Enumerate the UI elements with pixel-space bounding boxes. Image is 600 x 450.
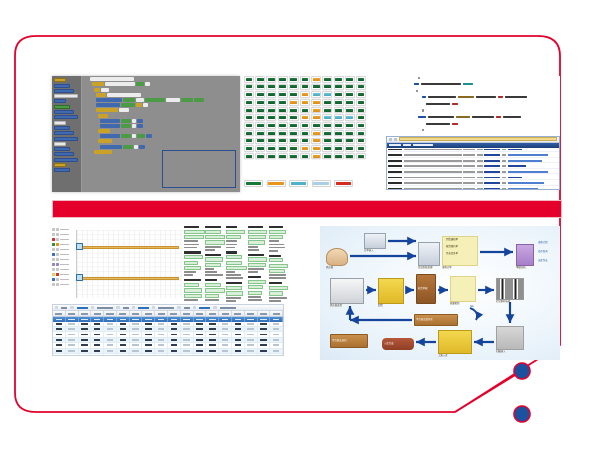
workflow-node-putaway[interactable]: [438, 330, 472, 354]
block-statement[interactable]: [98, 114, 240, 118]
table-cell[interactable]: [91, 354, 104, 356]
block-chip[interactable]: [143, 103, 148, 107]
code-line[interactable]: [388, 102, 560, 105]
workflow-node-supplier-person[interactable]: [326, 248, 348, 266]
workflow-node-unload[interactable]: [378, 278, 404, 304]
table-cell[interactable]: [270, 332, 283, 336]
log-filter-field[interactable]: [399, 137, 557, 141]
palette-block[interactable]: [54, 115, 78, 119]
table-cell[interactable]: [181, 338, 194, 342]
status-cell[interactable]: [334, 130, 344, 137]
status-cell[interactable]: [356, 76, 366, 83]
table-cell[interactable]: [155, 354, 168, 356]
status-cell[interactable]: [311, 122, 321, 129]
status-cell[interactable]: [334, 107, 344, 114]
blocks-canvas[interactable]: [84, 76, 240, 192]
gantt-task-bar[interactable]: [79, 246, 179, 249]
table-cell[interactable]: [219, 338, 232, 342]
table-row[interactable]: [53, 354, 283, 356]
table-column-header[interactable]: [194, 311, 207, 316]
table-toolbar-icon[interactable]: [152, 306, 155, 309]
status-cell[interactable]: [300, 153, 310, 160]
table-cell[interactable]: [168, 332, 181, 336]
status-cell[interactable]: [244, 107, 254, 114]
status-cell[interactable]: [334, 91, 344, 98]
status-cell[interactable]: [300, 91, 310, 98]
table-cell[interactable]: [53, 354, 66, 356]
table-cell[interactable]: [53, 327, 66, 331]
table-cell[interactable]: [66, 343, 79, 347]
table-cell[interactable]: [194, 349, 207, 353]
table-cell[interactable]: [194, 338, 207, 342]
status-cell[interactable]: [345, 84, 355, 91]
block-chip[interactable]: [98, 129, 110, 133]
status-cell[interactable]: [300, 76, 310, 83]
status-cell[interactable]: [255, 114, 265, 121]
status-cell[interactable]: [244, 91, 254, 98]
table-cell[interactable]: [155, 322, 168, 326]
table-cell[interactable]: [130, 349, 143, 353]
status-cell[interactable]: [289, 99, 299, 106]
block-chip[interactable]: [139, 145, 145, 149]
status-cell[interactable]: [334, 153, 344, 160]
status-cell[interactable]: [289, 84, 299, 91]
table-cell[interactable]: [104, 327, 117, 331]
table-cell[interactable]: [258, 327, 271, 331]
table-cell[interactable]: [117, 354, 130, 356]
table-cell[interactable]: [142, 322, 155, 326]
data-table-panel[interactable]: [52, 304, 284, 356]
table-toolbar-icon[interactable]: [132, 306, 135, 309]
table-cell[interactable]: [66, 338, 79, 342]
table-column-header[interactable]: [117, 311, 130, 316]
status-cell[interactable]: [356, 114, 366, 121]
palette-block[interactable]: [54, 137, 78, 141]
status-cell[interactable]: [311, 107, 321, 114]
status-cell[interactable]: [289, 153, 299, 160]
table-cell[interactable]: [245, 354, 258, 356]
table-cell[interactable]: [79, 322, 92, 326]
blocks-palette[interactable]: [52, 76, 82, 192]
block-chip[interactable]: [96, 103, 120, 107]
status-cell[interactable]: [334, 84, 344, 91]
code-line[interactable]: [388, 76, 560, 79]
table-cell[interactable]: [91, 338, 104, 342]
status-cell[interactable]: [244, 76, 254, 83]
block-chip[interactable]: [100, 119, 120, 123]
status-cell[interactable]: [255, 84, 265, 91]
table-cell[interactable]: [181, 332, 194, 336]
status-cell[interactable]: [356, 153, 366, 160]
block-statement[interactable]: [98, 129, 240, 133]
table-cell[interactable]: [168, 338, 181, 342]
code-editor-panel[interactable]: [388, 76, 560, 136]
table-column-header[interactable]: [142, 311, 155, 316]
block-chip[interactable]: [90, 77, 134, 81]
status-cell[interactable]: [322, 84, 332, 91]
status-cell[interactable]: [289, 114, 299, 121]
table-toolbar-icon[interactable]: [91, 306, 94, 309]
table-cell[interactable]: [91, 327, 104, 331]
block-chip[interactable]: [134, 145, 138, 149]
table-column-header[interactable]: [104, 311, 117, 316]
table-cell[interactable]: [130, 327, 143, 331]
table-toolbar-label[interactable]: [77, 307, 88, 309]
table-cell[interactable]: [130, 338, 143, 342]
block-chip[interactable]: [137, 119, 143, 123]
status-cell[interactable]: [278, 138, 288, 145]
table-cell[interactable]: [53, 338, 66, 342]
gantt-task-bar[interactable]: [79, 277, 179, 280]
status-cell[interactable]: [345, 76, 355, 83]
gantt-milestone-marker[interactable]: [76, 243, 83, 250]
table-cell[interactable]: [258, 343, 271, 347]
table-cell[interactable]: [79, 332, 92, 336]
status-cell[interactable]: [345, 122, 355, 129]
status-cell[interactable]: [244, 130, 254, 137]
status-cell[interactable]: [311, 145, 321, 152]
status-cell[interactable]: [345, 99, 355, 106]
table-column-header[interactable]: [181, 311, 194, 316]
block-chip[interactable]: [136, 98, 144, 102]
table-cell[interactable]: [117, 322, 130, 326]
table-column-header[interactable]: [245, 311, 258, 316]
table-cell[interactable]: [270, 349, 283, 353]
table-cell[interactable]: [66, 349, 79, 353]
code-line[interactable]: [388, 129, 560, 132]
block-chip[interactable]: [181, 98, 193, 102]
status-cell[interactable]: [266, 76, 276, 83]
workflow-diagram-panel[interactable]: 供应商订单录入信息系统处理采购订单单据归档供应商送货卸货收货单据质量检验打印条码…: [320, 226, 560, 360]
block-chip[interactable]: [166, 98, 180, 102]
table-cell[interactable]: [53, 349, 66, 353]
table-cell[interactable]: [206, 354, 219, 356]
table-cell[interactable]: [130, 354, 143, 356]
status-cell[interactable]: [266, 114, 276, 121]
table-cell[interactable]: [142, 327, 155, 331]
table-cell[interactable]: [258, 338, 271, 342]
block-statement[interactable]: [100, 134, 240, 138]
table-cell[interactable]: [232, 338, 245, 342]
table-cell[interactable]: [130, 322, 143, 326]
block-statement[interactable]: [92, 82, 240, 86]
workflow-node-inbound-truck[interactable]: [330, 278, 364, 304]
table-cell[interactable]: [219, 327, 232, 331]
table-cell[interactable]: [232, 343, 245, 347]
table-column-header[interactable]: [155, 311, 168, 316]
status-cell[interactable]: [345, 138, 355, 145]
table-cell[interactable]: [155, 338, 168, 342]
status-cell[interactable]: [322, 91, 332, 98]
table-cell[interactable]: [53, 322, 66, 326]
block-chip[interactable]: [136, 82, 144, 86]
table-cell[interactable]: [155, 332, 168, 336]
status-cell[interactable]: [278, 76, 288, 83]
palette-block[interactable]: [54, 110, 74, 114]
status-cell[interactable]: [322, 122, 332, 129]
table-cell[interactable]: [219, 322, 232, 326]
block-chip[interactable]: [94, 150, 112, 154]
status-cell[interactable]: [278, 153, 288, 160]
block-chip[interactable]: [100, 145, 122, 149]
status-cell[interactable]: [289, 145, 299, 152]
block-statement[interactable]: [96, 93, 240, 97]
status-cell[interactable]: [356, 107, 366, 114]
block-chip[interactable]: [107, 93, 141, 97]
block-chip[interactable]: [146, 134, 152, 138]
table-cell[interactable]: [245, 322, 258, 326]
block-chip[interactable]: [137, 134, 145, 138]
block-chip[interactable]: [100, 134, 120, 138]
blocks-editor-panel[interactable]: [52, 76, 240, 192]
workflow-node-scan-in[interactable]: [496, 326, 524, 350]
toolbar-icon[interactable]: [389, 138, 392, 141]
table-cell[interactable]: [206, 349, 219, 353]
code-line[interactable]: [388, 96, 560, 99]
table-cell[interactable]: [181, 322, 194, 326]
code-line[interactable]: [388, 122, 560, 125]
table-cell[interactable]: [245, 349, 258, 353]
table-cell[interactable]: [245, 332, 258, 336]
status-cell[interactable]: [266, 84, 276, 91]
table-cell[interactable]: [79, 354, 92, 356]
table-toolbar-label[interactable]: [220, 307, 236, 309]
palette-block[interactable]: [54, 78, 66, 82]
status-cell[interactable]: [356, 122, 366, 129]
table-cell[interactable]: [117, 327, 130, 331]
status-cell[interactable]: [278, 130, 288, 137]
table-column-header[interactable]: [79, 311, 92, 316]
palette-block[interactable]: [54, 142, 66, 146]
table-cell[interactable]: [270, 322, 283, 326]
block-chip[interactable]: [96, 93, 106, 97]
table-cell[interactable]: [245, 343, 258, 347]
table-cell[interactable]: [258, 332, 271, 336]
table-column-header[interactable]: [130, 311, 143, 316]
block-statement[interactable]: [90, 77, 240, 81]
table-cell[interactable]: [168, 354, 181, 356]
status-cell[interactable]: [311, 114, 321, 121]
table-cell[interactable]: [79, 349, 92, 353]
table-cell[interactable]: [142, 349, 155, 353]
table-toolbar-label[interactable]: [123, 307, 129, 309]
table-cell[interactable]: [232, 327, 245, 331]
workflow-node-erp-system[interactable]: [418, 242, 440, 266]
status-cell[interactable]: [311, 99, 321, 106]
table-cell[interactable]: [219, 343, 232, 347]
block-chip[interactable]: [105, 82, 135, 86]
status-cell[interactable]: [345, 153, 355, 160]
status-cell[interactable]: [334, 114, 344, 121]
status-cell[interactable]: [356, 84, 366, 91]
block-chip[interactable]: [101, 88, 109, 92]
status-cell[interactable]: [300, 138, 310, 145]
status-cell[interactable]: [278, 99, 288, 106]
table-toolbar-icon[interactable]: [213, 306, 216, 309]
table-toolbar-label[interactable]: [138, 307, 149, 309]
table-cell[interactable]: [104, 338, 117, 342]
status-cell[interactable]: [266, 130, 276, 137]
table-cell[interactable]: [117, 349, 130, 353]
block-chip[interactable]: [100, 124, 120, 128]
table-toolbar-label[interactable]: [61, 307, 67, 309]
status-cell[interactable]: [266, 145, 276, 152]
table-toolbar-icon[interactable]: [116, 306, 119, 309]
code-line[interactable]: [388, 89, 560, 92]
log-row[interactable]: [387, 176, 559, 180]
status-cell[interactable]: [266, 122, 276, 129]
status-grid-panel[interactable]: [244, 76, 366, 176]
table-toolbar-icon[interactable]: [193, 306, 196, 309]
status-cell[interactable]: [289, 138, 299, 145]
status-cell[interactable]: [278, 107, 288, 114]
status-cell[interactable]: [255, 76, 265, 83]
table-cell[interactable]: [130, 343, 143, 347]
table-toolbar-label[interactable]: [158, 307, 174, 309]
status-cell[interactable]: [345, 91, 355, 98]
status-cell[interactable]: [255, 99, 265, 106]
table-cell[interactable]: [79, 343, 92, 347]
table-cell[interactable]: [270, 327, 283, 331]
block-statement[interactable]: [96, 108, 240, 112]
palette-block[interactable]: [54, 99, 66, 103]
table-cell[interactable]: [206, 327, 219, 331]
block-chip[interactable]: [119, 108, 129, 112]
block-chip[interactable]: [136, 103, 142, 107]
status-cell[interactable]: [334, 99, 344, 106]
status-cell[interactable]: [311, 138, 321, 145]
status-cell[interactable]: [356, 138, 366, 145]
palette-block[interactable]: [54, 168, 70, 172]
table-cell[interactable]: [194, 327, 207, 331]
palette-block[interactable]: [54, 147, 70, 151]
status-cell[interactable]: [255, 138, 265, 145]
table-cell[interactable]: [168, 327, 181, 331]
palette-block[interactable]: [54, 105, 70, 109]
table-cell[interactable]: [117, 332, 130, 336]
status-cell[interactable]: [322, 138, 332, 145]
table-cell[interactable]: [117, 338, 130, 342]
workflow-node-archive[interactable]: [516, 244, 534, 266]
block-chip[interactable]: [96, 108, 118, 112]
block-chip[interactable]: [121, 134, 131, 138]
status-cell[interactable]: [244, 114, 254, 121]
block-chip[interactable]: [96, 98, 122, 102]
palette-block[interactable]: [54, 131, 74, 135]
status-cell[interactable]: [322, 99, 332, 106]
status-cell[interactable]: [266, 138, 276, 145]
table-cell[interactable]: [155, 349, 168, 353]
status-cell[interactable]: [289, 91, 299, 98]
table-cell[interactable]: [53, 332, 66, 336]
status-cell[interactable]: [356, 99, 366, 106]
palette-block[interactable]: [54, 126, 70, 130]
data-table-body[interactable]: [53, 322, 283, 356]
table-cell[interactable]: [270, 343, 283, 347]
table-column-header[interactable]: [168, 311, 181, 316]
table-cell[interactable]: [181, 327, 194, 331]
table-column-header[interactable]: [206, 311, 219, 316]
table-cell[interactable]: [142, 343, 155, 347]
block-statement[interactable]: [96, 98, 240, 102]
table-cell[interactable]: [194, 332, 207, 336]
table-cell[interactable]: [194, 343, 207, 347]
block-chip[interactable]: [123, 98, 135, 102]
status-cell[interactable]: [322, 130, 332, 137]
table-cell[interactable]: [155, 343, 168, 347]
log-row[interactable]: [387, 159, 559, 163]
status-cell[interactable]: [356, 130, 366, 137]
gantt-milestone-marker[interactable]: [76, 274, 83, 281]
palette-block[interactable]: [54, 121, 66, 125]
code-line[interactable]: [388, 109, 560, 112]
table-cell[interactable]: [245, 327, 258, 331]
table-cell[interactable]: [66, 322, 79, 326]
table-cell[interactable]: [270, 354, 283, 356]
table-cell[interactable]: [206, 343, 219, 347]
table-cell[interactable]: [258, 349, 271, 353]
log-row[interactable]: [387, 182, 559, 186]
status-cell[interactable]: [278, 122, 288, 129]
table-toolbar-label[interactable]: [97, 307, 113, 309]
status-cell[interactable]: [255, 122, 265, 129]
table-cell[interactable]: [194, 354, 207, 356]
status-cell[interactable]: [356, 145, 366, 152]
status-cell-grid[interactable]: [244, 76, 366, 159]
status-cell[interactable]: [334, 145, 344, 152]
status-cell[interactable]: [266, 99, 276, 106]
status-cell[interactable]: [244, 99, 254, 106]
palette-block[interactable]: [54, 94, 78, 98]
table-toolbar-label[interactable]: [199, 307, 210, 309]
table-cell[interactable]: [117, 343, 130, 347]
status-cell[interactable]: [244, 84, 254, 91]
status-cell[interactable]: [311, 76, 321, 83]
log-row[interactable]: [387, 154, 559, 158]
table-column-header[interactable]: [258, 311, 271, 316]
block-chip[interactable]: [123, 145, 133, 149]
table-cell[interactable]: [91, 349, 104, 353]
table-column-header[interactable]: [91, 311, 104, 316]
log-row[interactable]: [387, 187, 559, 190]
block-chip[interactable]: [132, 124, 136, 128]
status-cell[interactable]: [300, 99, 310, 106]
status-cell[interactable]: [266, 107, 276, 114]
log-row-list[interactable]: [387, 148, 559, 191]
toolbar-icon[interactable]: [394, 138, 397, 141]
block-chip[interactable]: [98, 114, 108, 118]
table-cell[interactable]: [91, 332, 104, 336]
table-cell[interactable]: [91, 343, 104, 347]
block-chip[interactable]: [145, 98, 165, 102]
status-cell[interactable]: [345, 114, 355, 121]
table-column-header[interactable]: [219, 311, 232, 316]
status-cell[interactable]: [255, 130, 265, 137]
status-cell[interactable]: [322, 145, 332, 152]
workflow-node-order-terminal[interactable]: [364, 233, 386, 249]
table-cell[interactable]: [258, 322, 271, 326]
table-cell[interactable]: [181, 349, 194, 353]
status-cell[interactable]: [255, 145, 265, 152]
table-cell[interactable]: [168, 343, 181, 347]
palette-block[interactable]: [54, 163, 66, 167]
table-cell[interactable]: [219, 332, 232, 336]
table-cell[interactable]: [168, 349, 181, 353]
table-cell[interactable]: [104, 332, 117, 336]
table-cell[interactable]: [219, 349, 232, 353]
status-cell[interactable]: [334, 138, 344, 145]
status-cell[interactable]: [244, 153, 254, 160]
